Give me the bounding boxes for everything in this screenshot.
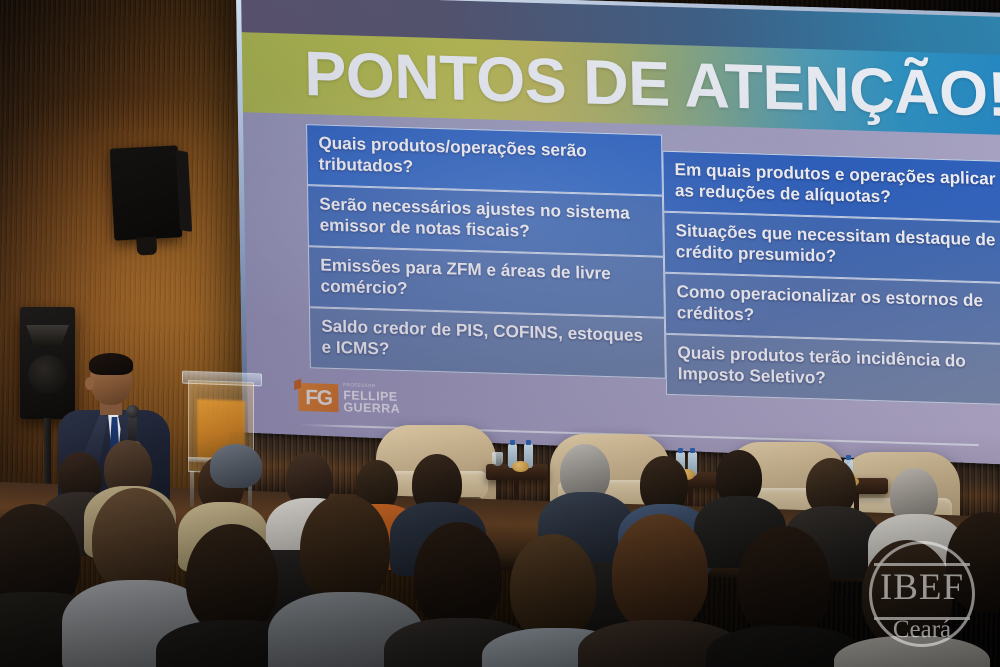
projection-screen: PONTOS DE ATENÇÃO!!! Quais produtos/oper… [236,0,1000,484]
fg-monogram-text: FG [305,387,331,409]
ibef-bar-top [874,563,970,566]
question-grid: Quais produtos/operações serão tributado… [306,124,1000,405]
audience-head [738,526,830,638]
presenter-brand-logo: FG PROFESSOR FELLIPE GUERRA [298,382,400,416]
audience-head [414,522,502,630]
question-box: Quais produtos/operações serão tributado… [306,124,663,196]
question-column-left: Quais produtos/operações serão tributado… [306,124,666,395]
speaker-bracket [136,237,157,256]
audience-seating [0,430,1000,667]
presenter-ear [85,377,94,390]
slide-surface: PONTOS DE ATENÇÃO!!! Quais produtos/oper… [236,0,1000,484]
brand-name-last: GUERRA [343,401,400,415]
audience-head [186,524,278,634]
ibef-region-text: Ceará [860,617,984,642]
ibef-watermark: IBEF Ceará [860,539,986,655]
audience-head [510,534,596,640]
presenter-hair [89,353,133,375]
wall-speaker-icon [110,145,183,240]
speaker-horn [26,325,69,347]
audience-head [300,494,390,604]
photograph-scene: PONTOS DE ATENÇÃO!!! Quais produtos/oper… [0,0,1000,667]
fg-monogram-icon: FG [298,383,338,412]
question-box: Situações que necessitam destaque de cré… [663,212,1000,284]
question-box: Serão necessários ajustes no sistema emi… [307,185,664,257]
question-box: Saldo credor de PIS, COFINS, estoques e … [309,307,666,379]
question-column-right: Em quais produtos e operações aplicar as… [662,151,1000,406]
question-box: Emissões para ZFM e áreas de livre comér… [308,246,665,318]
question-box: Quais produtos terão incidência do Impos… [665,334,1000,406]
slide-title: PONTOS DE ATENÇÃO!!! [242,41,1000,128]
question-box: Em quais produtos e operações aplicar as… [662,151,1000,223]
ibef-brand-text: IBEF [860,569,984,606]
audience-head [612,514,708,632]
brand-wordmark: PROFESSOR FELLIPE GUERRA [343,383,400,415]
audience-head [92,488,178,592]
question-box: Como operacionalizar os estornos de créd… [664,273,1000,345]
audience-head-with-flatcap [210,444,262,488]
